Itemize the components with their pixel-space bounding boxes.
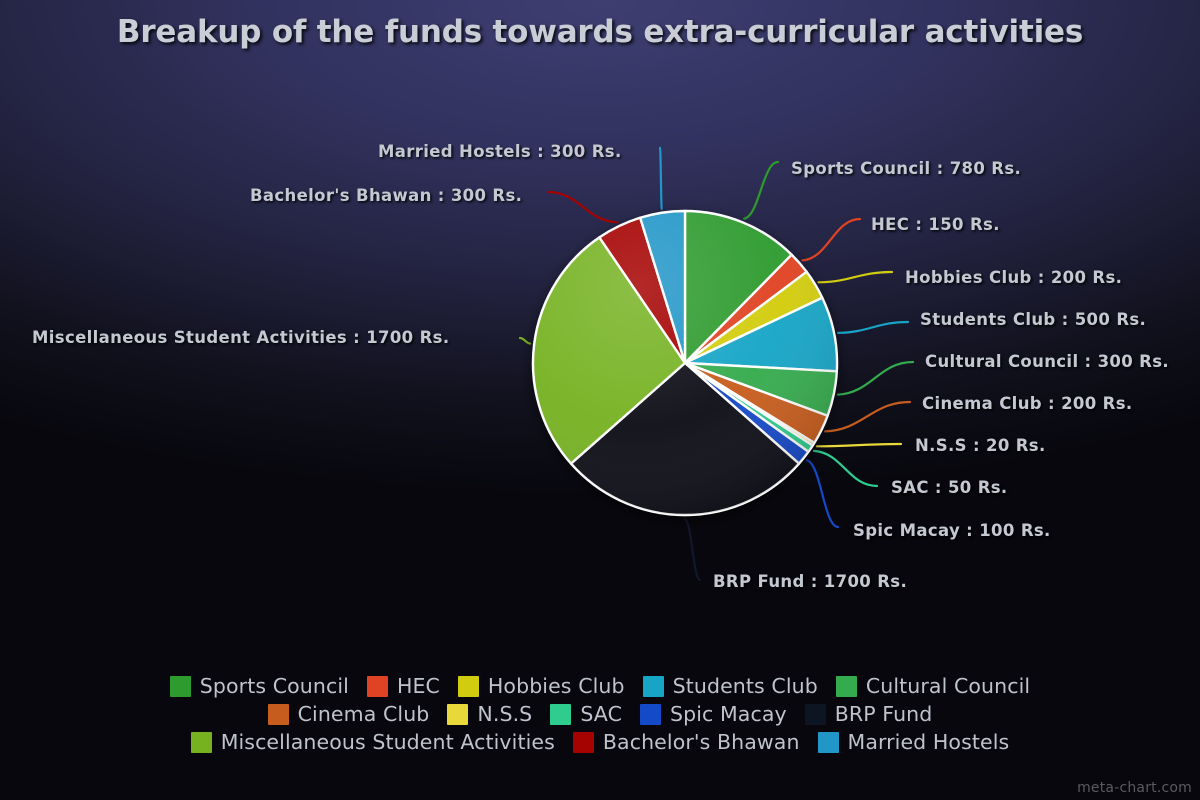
legend-swatch-icon — [550, 704, 571, 725]
legend-swatch-icon — [573, 732, 594, 753]
legend-label: Sports Council — [200, 674, 349, 698]
legend-swatch-icon — [836, 676, 857, 697]
legend-item-miscellaneous-student-activities[interactable]: Miscellaneous Student Activities — [191, 730, 555, 754]
leader-line — [817, 444, 901, 446]
legend-label: Hobbies Club — [488, 674, 625, 698]
legend-row-1: Sports Council HEC Hobbies Club Students… — [0, 672, 1200, 700]
legend-label: HEC — [397, 674, 440, 698]
callout-married-hostels: Married Hostels : 300 Rs. — [378, 142, 622, 161]
legend-item-hec[interactable]: HEC — [367, 674, 440, 698]
legend-swatch-icon — [458, 676, 479, 697]
legend-label: Spic Macay — [670, 702, 787, 726]
legend-item-married-hostels[interactable]: Married Hostels — [818, 730, 1010, 754]
legend-item-cinema-club[interactable]: Cinema Club — [268, 702, 430, 726]
legend-swatch-icon — [805, 704, 826, 725]
callout-cinema-club: Cinema Club : 200 Rs. — [922, 394, 1133, 413]
leader-line — [520, 338, 530, 344]
callout-students-club: Students Club : 500 Rs. — [920, 310, 1146, 329]
callout-spic-macay: Spic Macay : 100 Rs. — [853, 521, 1051, 540]
legend-label: Cultural Council — [866, 674, 1030, 698]
legend-item-spic-macay[interactable]: Spic Macay — [640, 702, 787, 726]
legend-swatch-icon — [818, 732, 839, 753]
callout-brp-fund: BRP Fund : 1700 Rs. — [713, 572, 907, 591]
leader-line — [744, 162, 778, 219]
legend-label: Miscellaneous Student Activities — [221, 730, 555, 754]
callout-cultural-council: Cultural Council : 300 Rs. — [925, 352, 1169, 371]
legend-label: BRP Fund — [835, 702, 933, 726]
legend-swatch-icon — [191, 732, 212, 753]
callout-sac: SAC : 50 Rs. — [891, 478, 1008, 497]
legend-label: Cinema Club — [298, 702, 430, 726]
callout-hobbies-club: Hobbies Club : 200 Rs. — [905, 268, 1122, 287]
legend-swatch-icon — [268, 704, 289, 725]
legend-swatch-icon — [643, 676, 664, 697]
leader-line — [814, 451, 877, 486]
legend-row-3: Miscellaneous Student Activities Bachelo… — [0, 728, 1200, 756]
leader-line — [838, 362, 913, 395]
callout-nss: N.S.S : 20 Rs. — [915, 436, 1046, 455]
callout-miscellaneous-student-activities: Miscellaneous Student Activities : 1700 … — [32, 328, 449, 347]
legend-row-2: Cinema Club N.S.S SAC Spic Macay BRP Fun… — [0, 700, 1200, 728]
leader-line — [548, 192, 617, 222]
legend-item-sports-council[interactable]: Sports Council — [170, 674, 349, 698]
leader-line — [660, 148, 662, 209]
legend-item-bachelors-bhawan[interactable]: Bachelor's Bhawan — [573, 730, 800, 754]
callout-hec: HEC : 150 Rs. — [871, 215, 1000, 234]
legend: Sports Council HEC Hobbies Club Students… — [0, 672, 1200, 756]
legend-item-cultural-council[interactable]: Cultural Council — [836, 674, 1030, 698]
watermark: meta-chart.com — [1077, 780, 1192, 796]
leader-line — [803, 219, 861, 260]
callout-bachelors-bhawan: Bachelor's Bhawan : 300 Rs. — [250, 186, 522, 205]
legend-swatch-icon — [170, 676, 191, 697]
legend-label: Students Club — [673, 674, 818, 698]
leader-line — [819, 272, 893, 282]
legend-item-hobbies-club[interactable]: Hobbies Club — [458, 674, 625, 698]
legend-item-students-club[interactable]: Students Club — [643, 674, 818, 698]
legend-item-brp-fund[interactable]: BRP Fund — [805, 702, 933, 726]
leader-line — [685, 519, 700, 580]
legend-item-nss[interactable]: N.S.S — [447, 702, 532, 726]
legend-item-sac[interactable]: SAC — [550, 702, 622, 726]
legend-swatch-icon — [640, 704, 661, 725]
leader-line — [838, 322, 908, 333]
legend-label: Married Hostels — [848, 730, 1010, 754]
legend-swatch-icon — [367, 676, 388, 697]
chart-page: Breakup of the funds towards extra-curri… — [0, 0, 1200, 800]
legend-label: N.S.S — [477, 702, 532, 726]
leader-line — [825, 402, 910, 431]
leader-line — [807, 460, 838, 527]
legend-label: Bachelor's Bhawan — [603, 730, 800, 754]
legend-label: SAC — [580, 702, 622, 726]
legend-swatch-icon — [447, 704, 468, 725]
callout-sports-council: Sports Council : 780 Rs. — [791, 159, 1021, 178]
pie-slices — [533, 211, 837, 515]
